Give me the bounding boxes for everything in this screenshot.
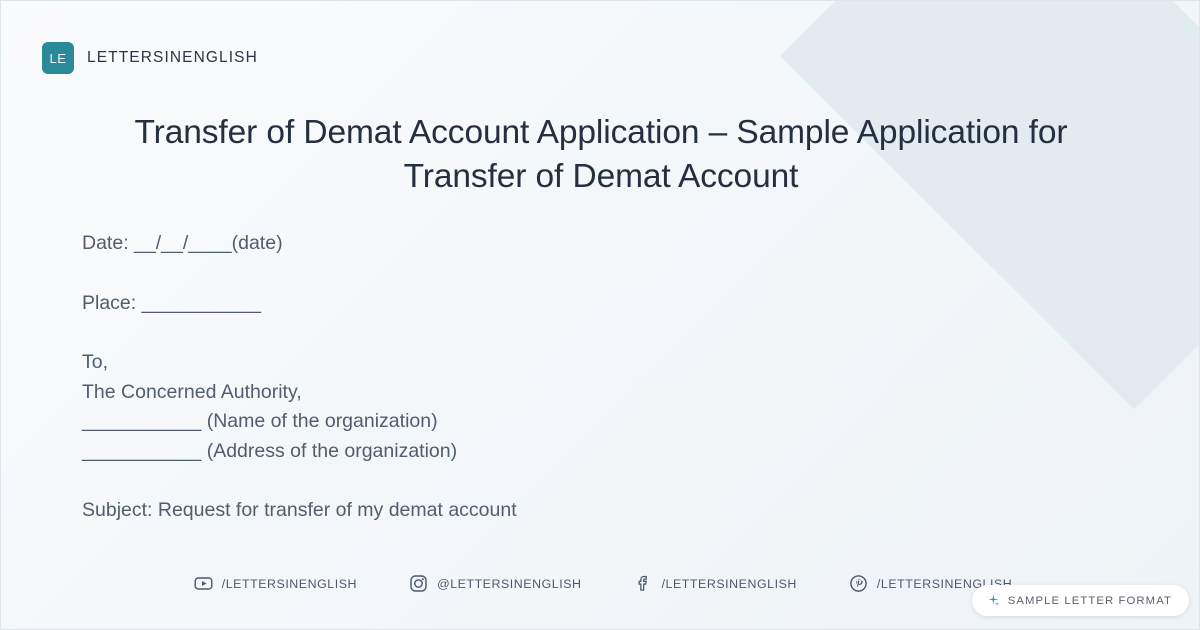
social-handle-youtube: /LETTERSINENGLISH xyxy=(222,577,357,591)
page-title: Transfer of Demat Account Application – … xyxy=(101,111,1101,199)
lightning-bolt-icon xyxy=(985,593,1000,608)
place-block: Place: ___________ xyxy=(82,289,1032,319)
place-line: Place: ___________ xyxy=(82,289,1032,319)
social-handle-facebook: /LETTERSINENGLISH xyxy=(662,577,797,591)
organization-address-line: ___________ (Address of the organization… xyxy=(82,437,1032,467)
organization-name-line: ___________ (Name of the organization) xyxy=(82,407,1032,437)
letter-template-card: LE LETTERSINENGLISH Transfer of Demat Ac… xyxy=(0,0,1200,630)
subject-block: Subject: Request for transfer of my dema… xyxy=(82,496,1032,526)
to-line: To, xyxy=(82,348,1032,378)
spacer xyxy=(82,467,1032,496)
spacer xyxy=(82,318,1032,348)
subject-line: Subject: Request for transfer of my dema… xyxy=(82,496,1032,526)
social-link-instagram[interactable]: @LETTERSINENGLISH xyxy=(409,574,582,593)
brand-badge-initials: LE xyxy=(42,42,74,74)
date-block: Date: __/__/____(date) xyxy=(82,229,1032,259)
brand-logo[interactable]: LE LETTERSINENGLISH xyxy=(42,42,258,74)
social-link-facebook[interactable]: /LETTERSINENGLISH xyxy=(634,574,797,593)
youtube-icon xyxy=(194,574,213,593)
instagram-icon xyxy=(409,574,428,593)
sample-letter-format-label: SAMPLE LETTER FORMAT xyxy=(1008,595,1172,607)
spacer xyxy=(82,259,1032,289)
date-line: Date: __/__/____(date) xyxy=(82,229,1032,259)
brand-name-label: LETTERSINENGLISH xyxy=(87,49,258,67)
card-content: LE LETTERSINENGLISH Transfer of Demat Ac… xyxy=(1,1,1199,629)
recipient-block: To, The Concerned Authority, ___________… xyxy=(82,348,1032,466)
sample-letter-format-badge[interactable]: SAMPLE LETTER FORMAT xyxy=(972,585,1189,616)
social-handle-instagram: @LETTERSINENGLISH xyxy=(437,577,582,591)
facebook-icon xyxy=(634,574,653,593)
letter-body: Date: __/__/____(date) Place: __________… xyxy=(82,229,1032,525)
social-link-youtube[interactable]: /LETTERSINENGLISH xyxy=(194,574,357,593)
pinterest-icon xyxy=(849,574,868,593)
authority-line: The Concerned Authority, xyxy=(82,378,1032,408)
